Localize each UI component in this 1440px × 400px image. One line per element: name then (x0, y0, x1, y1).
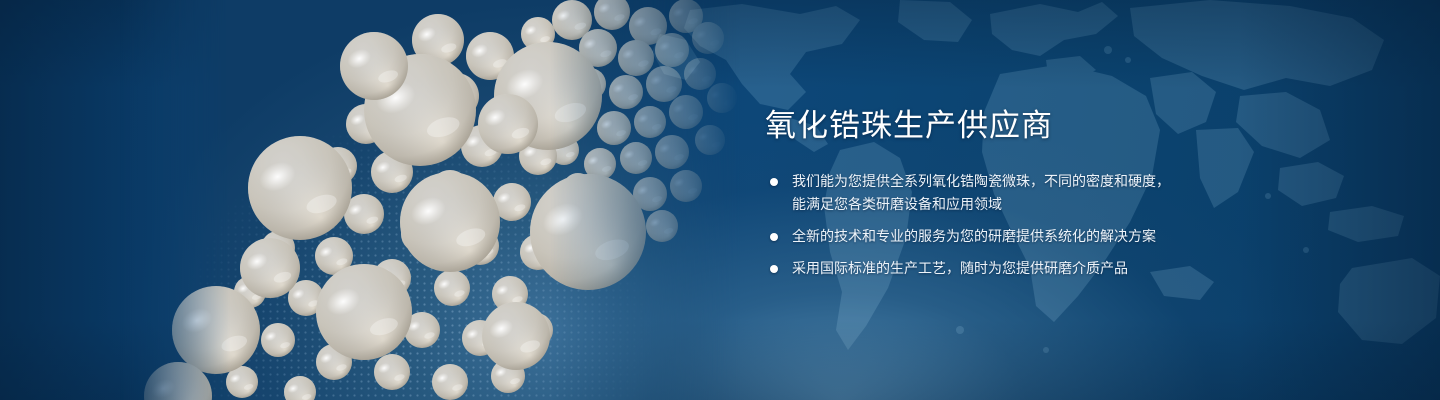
zirconia-ceramic-beads-photo (120, 0, 740, 400)
bead-cluster (120, 0, 740, 400)
list-item-line: 我们能为您提供全系列氧化锆陶瓷微珠，不同的密度和硬度， (792, 170, 1365, 193)
hero-banner: 氧化锆珠生产供应商 我们能为您提供全系列氧化锆陶瓷微珠，不同的密度和硬度， 能满… (0, 0, 1440, 400)
page-title: 氧化锆珠生产供应商 (765, 106, 1365, 146)
banner-copy: 氧化锆珠生产供应商 我们能为您提供全系列氧化锆陶瓷微珠，不同的密度和硬度， 能满… (765, 106, 1365, 280)
bullet-dot-icon (770, 265, 778, 273)
list-item-line: 全新的技术和专业的服务为您的研磨提供系统化的解决方案 (792, 225, 1365, 248)
list-item-line: 能满足您各类研磨设备和应用领域 (792, 193, 1365, 216)
feature-list: 我们能为您提供全系列氧化锆陶瓷微珠，不同的密度和硬度， 能满足您各类研磨设备和应… (765, 170, 1365, 280)
bullet-dot-icon (770, 233, 778, 241)
list-item-line: 采用国际标准的生产工艺，随时为您提供研磨介质产品 (792, 257, 1365, 280)
list-item: 全新的技术和专业的服务为您的研磨提供系统化的解决方案 (765, 225, 1365, 248)
bullet-dot-icon (770, 178, 778, 186)
list-item: 采用国际标准的生产工艺，随时为您提供研磨介质产品 (765, 257, 1365, 280)
list-item: 我们能为您提供全系列氧化锆陶瓷微珠，不同的密度和硬度， 能满足您各类研磨设备和应… (765, 170, 1365, 216)
